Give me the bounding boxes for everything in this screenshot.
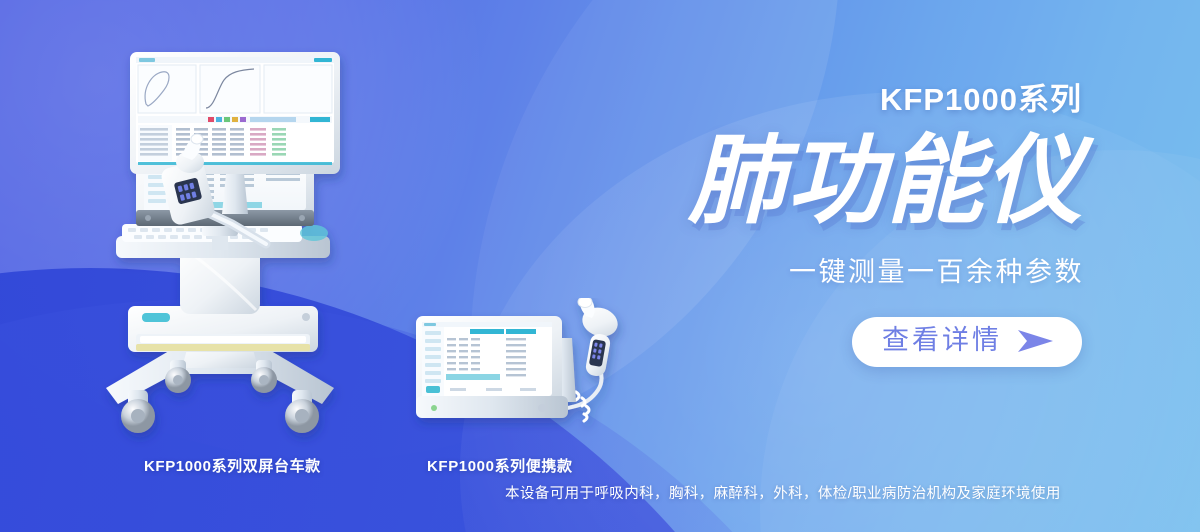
product-caption-cart: KFP1000系列双屏台车款 <box>144 455 321 476</box>
page-title: 肺功能仪 <box>600 133 1100 228</box>
view-details-label: 查看详情 <box>882 326 1002 356</box>
product-banner: KFP1000系列 肺功能仪 一键测量一百余种参数 查看详情 KFP1000系列… <box>0 0 1200 532</box>
usage-disclaimer: 本设备可用于呼吸内科，胸科，麻醉科，外科，体检/职业病防治机构及家庭环境使用 <box>505 482 1061 503</box>
cta-row: 查看详情 <box>600 317 1100 367</box>
view-details-button[interactable]: 查看详情 <box>852 317 1082 367</box>
product-image-cart <box>70 38 370 448</box>
product-caption-portable: KFP1000系列便携款 <box>427 455 573 476</box>
product-series-label: KFP1000系列 <box>600 84 1100 115</box>
copy-block: KFP1000系列 肺功能仪 一键测量一百余种参数 查看详情 <box>600 84 1100 367</box>
tagline: 一键测量一百余种参数 <box>600 250 1100 289</box>
play-arrow-icon <box>1014 327 1056 355</box>
